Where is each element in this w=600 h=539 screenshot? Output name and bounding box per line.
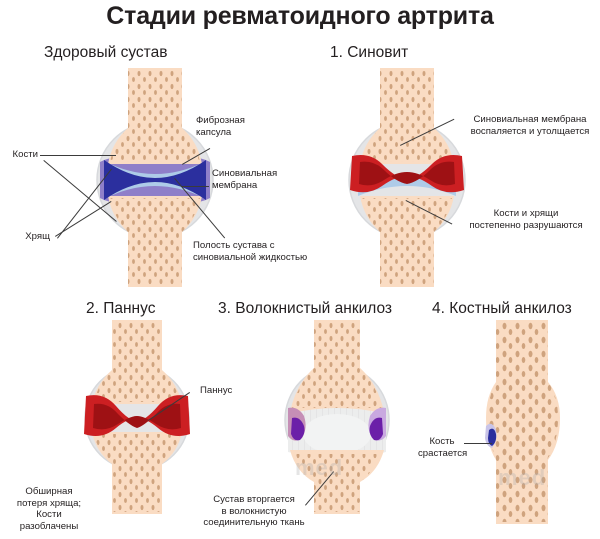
watermark: med — [295, 455, 343, 481]
annotation-bone-fusion: Кость срастается — [418, 436, 466, 459]
joint-illustration-fibrous-ankylosis — [262, 322, 412, 512]
joint-illustration-bony-ankylosis — [462, 322, 582, 522]
panel-heading-bony: 4. Костный анкилоз — [432, 300, 572, 318]
annotation-bone-destruction: Кости и хрящи постепенно разрушаются — [455, 208, 597, 231]
leader-bones — [40, 155, 116, 156]
annotation-membrane-inflamed: Синовиальная мембрана воспаляется и утол… — [460, 114, 600, 137]
leader-bone-fusion — [464, 443, 492, 444]
annotation-fibrous-capsule: Фиброзная капсула — [196, 115, 245, 138]
annotation-cartilage-loss: Обширная потеря хряща; Кости разоблачены — [6, 486, 92, 532]
panel-heading-synovitis: 1. Синовит — [330, 44, 408, 62]
annotation-joint-invasion: Сустав вторгается в волокнистую соединит… — [192, 494, 316, 529]
panel-heading-pannus: 2. Паннус — [86, 300, 155, 318]
annotation-joint-cavity: Полость сустава с синовиальной жидкостью — [193, 240, 307, 263]
page-title: Стадии ревматоидного артрита — [0, 2, 600, 31]
watermark-2: med — [498, 465, 546, 491]
joint-illustration-synovitis — [322, 70, 492, 285]
annotation-cartilage: Хрящ — [0, 231, 50, 243]
panel-heading-healthy: Здоровый сустав — [44, 44, 167, 62]
diagram-page: Стадии ревматоидного артрита Здоровый су… — [0, 0, 600, 539]
annotation-bones: Кости — [0, 149, 38, 161]
annotation-synovial-membrane: Синовиальная мембрана — [212, 168, 277, 191]
joint-illustration-pannus — [62, 322, 212, 512]
panel-heading-fibrous: 3. Волокнистый анкилоз — [218, 300, 392, 318]
leader-membrane — [181, 186, 209, 187]
annotation-pannus: Паннус — [200, 385, 232, 397]
